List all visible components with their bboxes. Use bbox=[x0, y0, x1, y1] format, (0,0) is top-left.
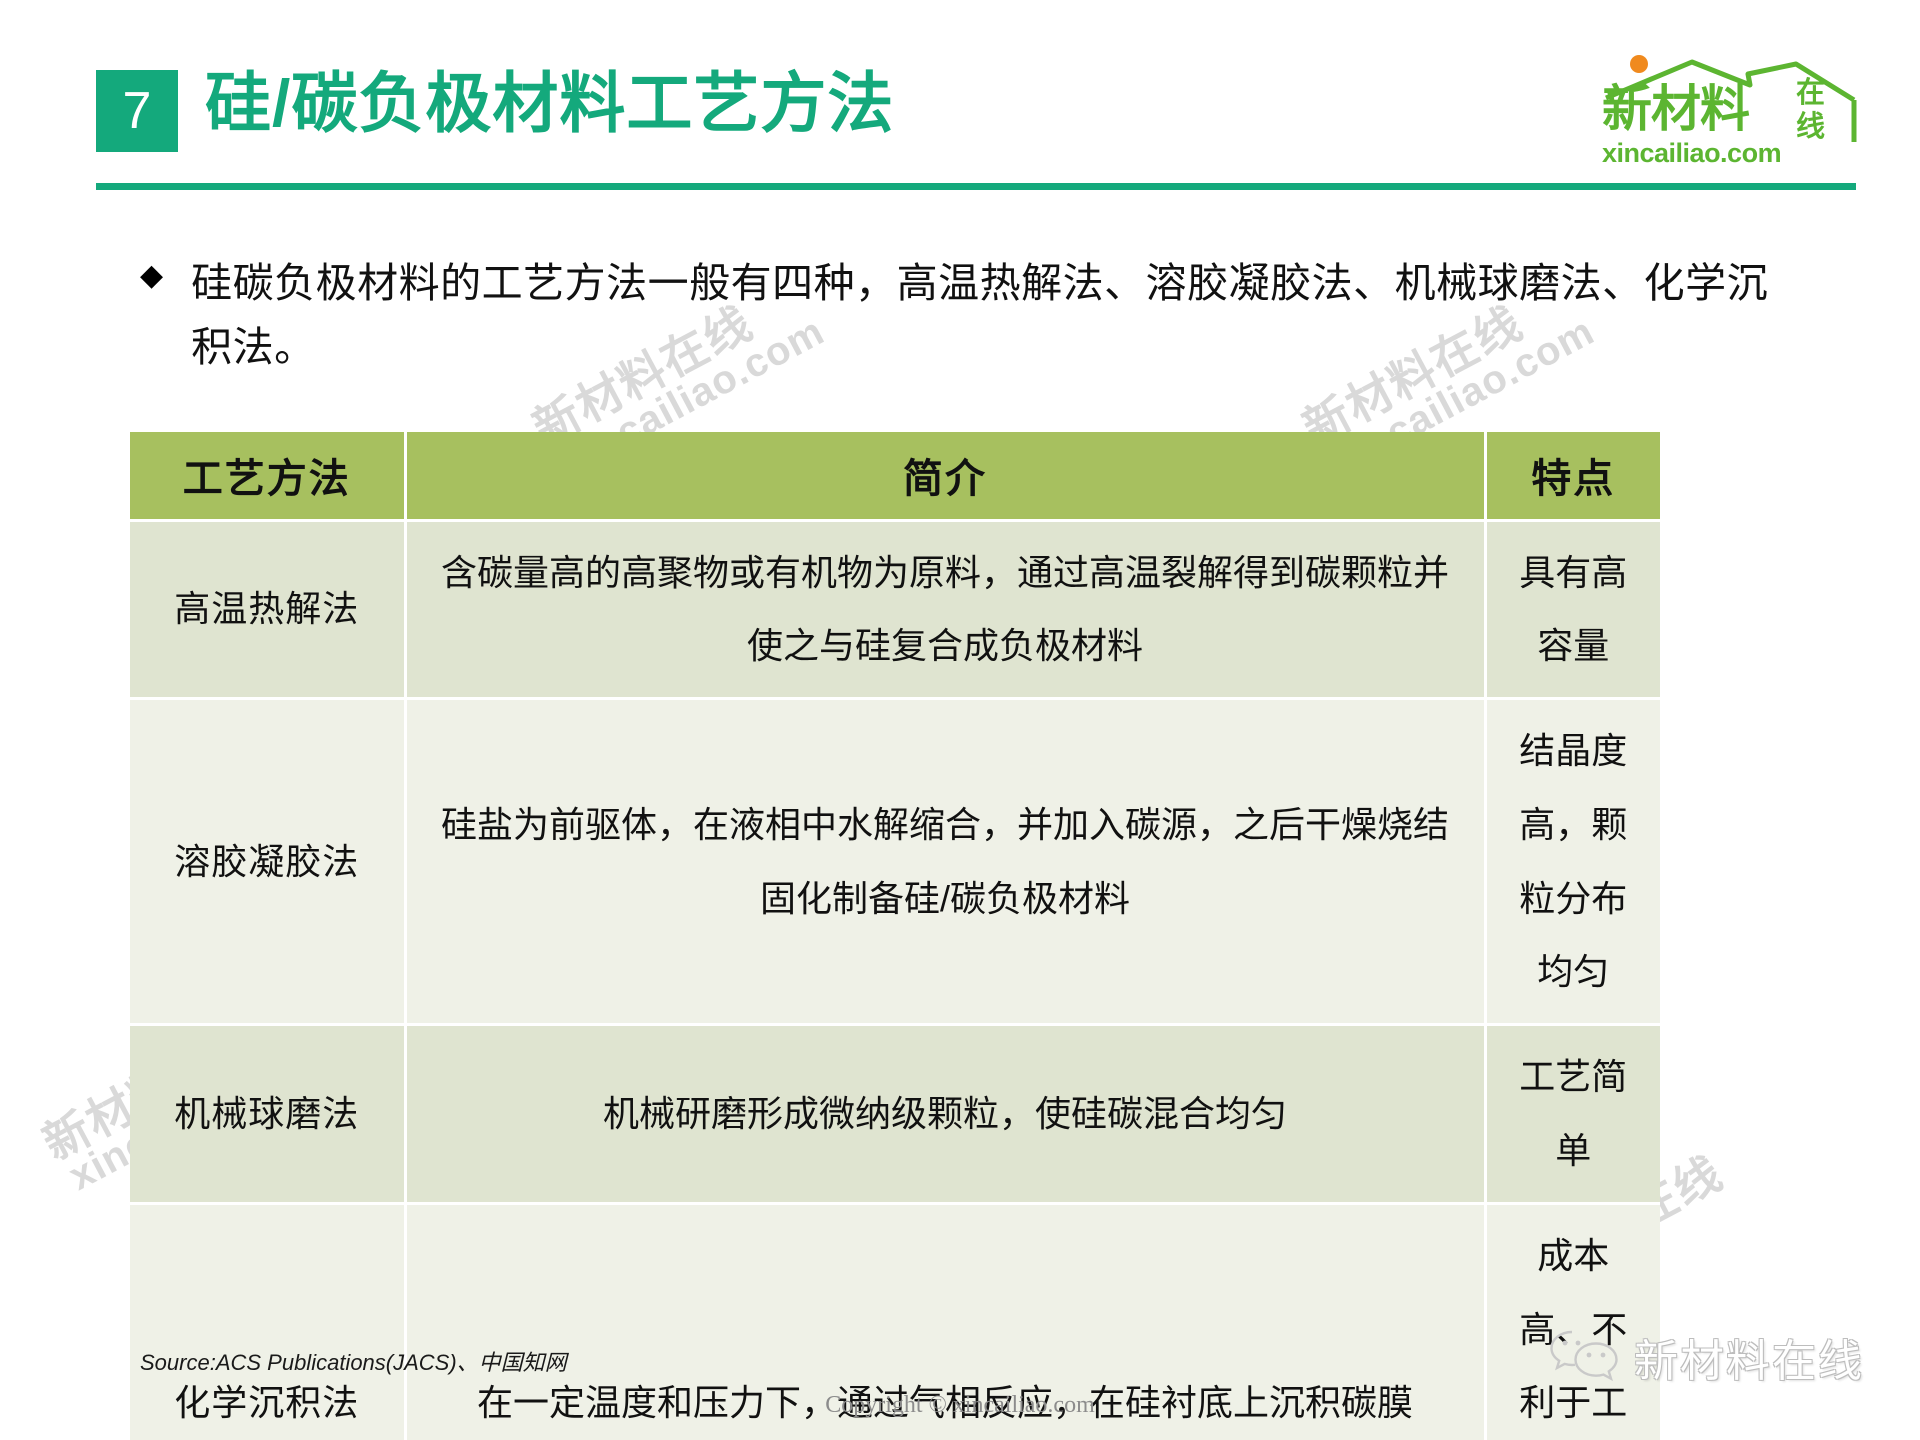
logo-brand-cn: 新材料 bbox=[1602, 81, 1750, 137]
bullet-item-text: 硅碳负极材料的工艺方法一般有四种，高温热解法、溶胶凝胶法、机械球磨法、化学沉积法… bbox=[191, 252, 1790, 379]
cell-method: 高温热解法 bbox=[130, 520, 405, 699]
column-header-feature: 特点 bbox=[1485, 432, 1660, 520]
table-header-row: 工艺方法 简介 特点 bbox=[130, 432, 1660, 520]
wechat-label: 新材料在线 bbox=[1634, 1325, 1864, 1389]
column-header-method: 工艺方法 bbox=[130, 432, 405, 520]
slide-canvas: 新材料在线 xincailiao.com 新材料在线 xincailiao.co… bbox=[0, 0, 1920, 1440]
bullet-list: ◆ 硅碳负极材料的工艺方法一般有四种，高温热解法、溶胶凝胶法、机械球磨法、化学沉… bbox=[140, 252, 1790, 379]
wechat-badge: 新材料在线 bbox=[1548, 1325, 1864, 1389]
cell-summary: 含碳量高的高聚物或有机物为原料，通过高温裂解得到碳颗粒并使之与硅复合成负极材料 bbox=[405, 520, 1485, 699]
cell-method: 溶胶凝胶法 bbox=[130, 699, 405, 1025]
cell-feature: 结晶度高，颗粒分布均匀 bbox=[1485, 699, 1660, 1025]
copyright-notice: Copyright © xincailiao.com bbox=[0, 1392, 1920, 1419]
column-header-summary: 简介 bbox=[405, 432, 1485, 520]
list-item: ◆ 硅碳负极材料的工艺方法一般有四种，高温热解法、溶胶凝胶法、机械球磨法、化学沉… bbox=[140, 252, 1790, 379]
title-underline-rule bbox=[96, 183, 1856, 190]
diamond-bullet-icon: ◆ bbox=[140, 261, 163, 291]
xincailiao-logo: 新材料 在 线 xincailiao.com bbox=[1600, 38, 1868, 168]
sun-dot-icon bbox=[1630, 55, 1648, 73]
page-title: 硅/碳负极材料工艺方法 bbox=[205, 62, 894, 145]
table-row: 溶胶凝胶法 硅盐为前驱体，在液相中水解缩合，并加入碳源，之后干燥烧结固化制备硅/… bbox=[130, 699, 1660, 1025]
source-citation: Source:ACS Publications(JACS)、中国知网 bbox=[140, 1345, 567, 1377]
process-methods-table: 工艺方法 简介 特点 高温热解法 含碳量高的高聚物或有机物为原料，通过高温裂解得… bbox=[130, 432, 1660, 1440]
table-row: 机械球磨法 机械研磨形成微纳级颗粒，使硅碳混合均匀 工艺简单 bbox=[130, 1025, 1660, 1204]
cell-feature: 工艺简单 bbox=[1485, 1025, 1660, 1204]
cell-summary: 机械研磨形成微纳级颗粒，使硅碳混合均匀 bbox=[405, 1025, 1485, 1204]
cell-feature: 具有高容量 bbox=[1485, 520, 1660, 699]
logo-brand-suffix-line1: 在 bbox=[1796, 76, 1825, 109]
cell-method: 机械球磨法 bbox=[130, 1025, 405, 1204]
logo-domain: xincailiao.com bbox=[1602, 138, 1781, 168]
cell-summary: 硅盐为前驱体，在液相中水解缩合，并加入碳源，之后干燥烧结固化制备硅/碳负极材料 bbox=[405, 699, 1485, 1025]
slide-number-badge: 7 bbox=[96, 70, 178, 152]
wechat-icon bbox=[1548, 1328, 1620, 1387]
table-row: 高温热解法 含碳量高的高聚物或有机物为原料，通过高温裂解得到碳颗粒并使之与硅复合… bbox=[130, 520, 1660, 699]
logo-brand-suffix-line2: 线 bbox=[1796, 110, 1825, 143]
